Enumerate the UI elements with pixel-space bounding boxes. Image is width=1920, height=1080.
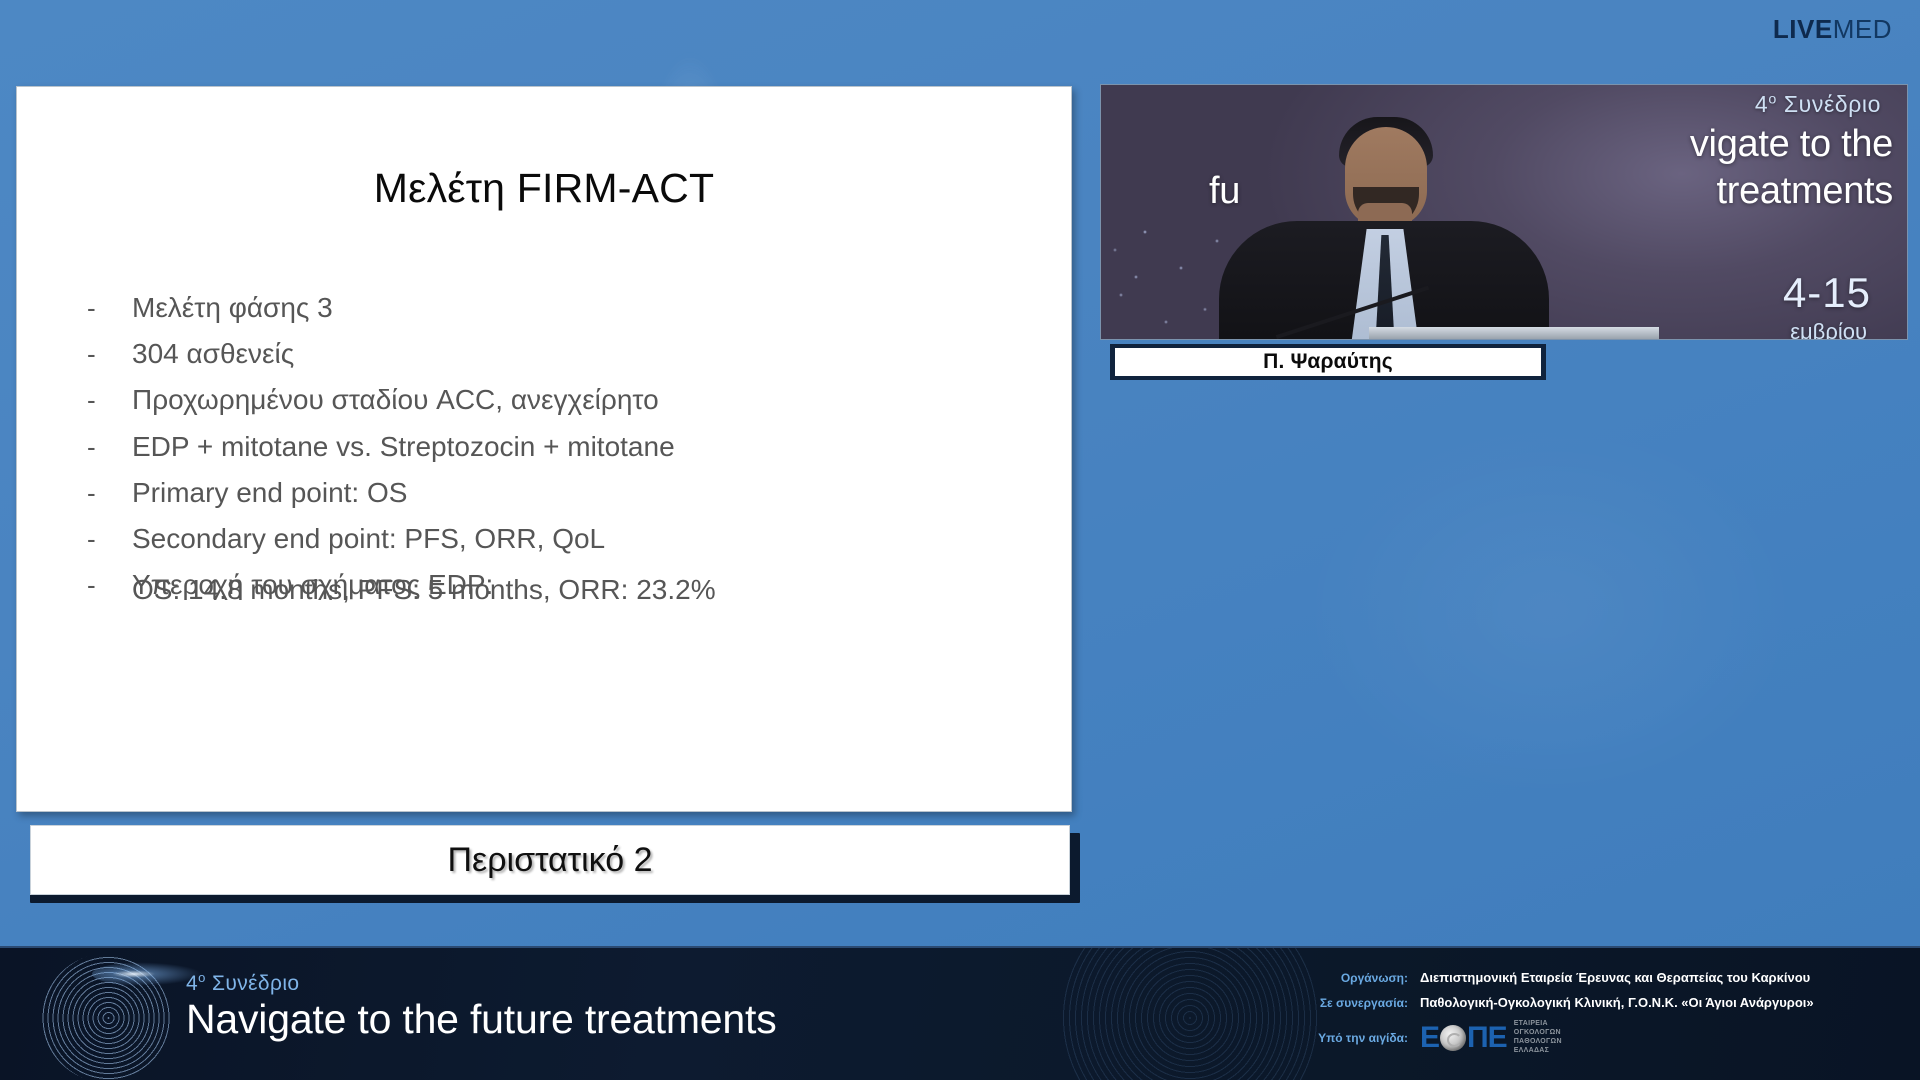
eope-letters-right: ΠΕ [1467,1023,1507,1053]
backdrop-conference-label: 4ο Συνέδριο [1755,91,1881,118]
eope-subtitle-line3: ΠΑΘΟΛΟΓΩΝ [1514,1038,1562,1047]
list-item: - Secondary end point: PFS, ORR, QoL [87,523,1031,555]
backdrop-conference-word: Συνέδριο [1784,91,1881,117]
eope-subtitle-line2: ΟΓΚΟΛΟΓΩΝ [1514,1029,1562,1038]
backdrop-month: εμβρίου [1790,319,1867,340]
list-item: - Μελέτη φάσης 3 [87,292,1031,324]
presentation-viewer: LIVEMED Μελέτη FIRM-ACT - Μελέτη φάσης 3… [0,0,1920,1080]
credit-label: Υπό την αιγίδα: [1256,1031,1420,1045]
livemed-logo-med: MED [1833,14,1892,44]
bullet-text: EDP + mitotane vs. Streptozocin + mitota… [132,431,1031,463]
event-credits: Οργάνωση: Διεπιστημονική Εταιρεία Έρευνα… [1256,970,1896,1066]
speaker-name-plate-container: Π. Ψαραύτης [1110,344,1546,380]
backdrop-conference-ord: ο [1768,91,1777,107]
bullet-text: Προχωρημένου σταδίου ACC, ανεγχείρητο [132,384,1031,416]
speaker-name: Π. Ψαραύτης [1263,350,1393,374]
video-frame[interactable]: 4ο Συνέδριο vigate to the fu treatments … [1100,84,1908,340]
credit-row-collaboration: Σε συνεργασία: Παθολογική-Ογκολογική Κλι… [1256,995,1896,1010]
case-banner: Περιστατικό 2 [30,825,1070,895]
bullet-marker: - [87,433,132,463]
backdrop-dates: 4-15 [1783,269,1871,317]
eope-subtitle-line1: ΕΤΑΙΡΕΙΑ [1514,1020,1562,1029]
bullet-marker: - [87,525,132,555]
event-footer-banner: 4ο Συνέδριο Navigate to the future treat… [0,946,1920,1080]
list-item: - 304 ασθενείς [87,338,1031,370]
laptop-edge [1369,327,1659,339]
bullet-text: Secondary end point: PFS, ORR, QoL [132,523,1031,555]
backdrop-title-line2-right: treatments [1716,170,1893,213]
bullet-marker: - [87,340,132,370]
bullet-text: Primary end point: OS [132,477,1031,509]
slide-title: Μελέτη FIRM-ACT [17,165,1071,212]
credit-label: Σε συνεργασία: [1256,996,1420,1010]
eope-sphere-icon [1440,1025,1466,1051]
eope-logo: Ε ΠΕ ΕΤΑΙΡΕΙΑ ΟΓΚΟΛΟΓΩΝ ΠΑΘΟΛΟΓΩΝ ΕΛΛΑΔΑ… [1420,1020,1562,1056]
eope-letter-left: Ε [1420,1023,1439,1053]
backdrop-title-line1: vigate to the [1690,123,1893,166]
event-edition-word: Συνέδριο [212,972,300,995]
slide-sub-note: OS: 14.8 months, PFS: 5 months, ORR: 23.… [132,574,716,606]
list-item: - EDP + mitotane vs. Streptozocin + mito… [87,431,1031,463]
bullet-marker: - [87,386,132,416]
credit-value: Διεπιστημονική Εταιρεία Έρευνας και Θερα… [1420,970,1810,985]
speaker-video-panel[interactable]: 4ο Συνέδριο vigate to the fu treatments … [1100,84,1908,504]
speaker-figure [1219,111,1549,339]
list-item: - Προχωρημένου σταδίου ACC, ανεγχείρητο [87,384,1031,416]
backdrop-conference-num: 4 [1755,91,1768,117]
slide-container: Μελέτη FIRM-ACT - Μελέτη φάσης 3 - 304 α… [16,86,1080,816]
credit-row-organizer: Οργάνωση: Διεπιστημονική Εταιρεία Έρευνα… [1256,970,1896,985]
credit-row-auspices: Υπό την αιγίδα: Ε ΠΕ ΕΤΑΙΡΕΙΑ ΟΓΚΟΛΟΓΩΝ … [1256,1020,1896,1056]
eope-wordmark: Ε ΠΕ [1420,1023,1507,1053]
event-branding: 4ο Συνέδριο Navigate to the future treat… [186,970,777,1041]
bullet-marker: - [87,294,132,324]
event-edition-num: 4 [186,972,198,995]
bullet-text: Μελέτη φάσης 3 [132,292,1031,324]
eope-subtitle-line4: ΕΛΛΑΔΑΣ [1514,1047,1562,1056]
case-banner-container: Περιστατικό 2 [16,825,1080,903]
event-title: Navigate to the future treatments [186,998,777,1041]
bullet-marker: - [87,479,132,509]
event-edition: 4ο Συνέδριο [186,970,777,996]
credit-label: Οργάνωση: [1256,971,1420,985]
bullet-marker: - [87,571,132,601]
speaker-name-plate: Π. Ψαραύτης [1115,348,1541,376]
livemed-logo: LIVEMED [1773,16,1892,42]
bullet-text: 304 ασθενείς [132,338,1031,370]
slide-bullet-list: - Μελέτη φάσης 3 - 304 ασθενείς - Προχωρ… [87,292,1031,615]
slide: Μελέτη FIRM-ACT - Μελέτη φάσης 3 - 304 α… [16,86,1072,812]
livemed-logo-live: LIVE [1773,14,1833,44]
event-edition-ord: ο [198,970,206,985]
eope-subtitle: ΕΤΑΙΡΕΙΑ ΟΓΚΟΛΟΓΩΝ ΠΑΘΟΛΟΓΩΝ ΕΛΛΑΔΑΣ [1514,1020,1562,1056]
list-item: - Primary end point: OS [87,477,1031,509]
case-banner-label: Περιστατικό 2 [447,841,652,880]
credit-value: Παθολογική-Ογκολογική Κλινική, Γ.Ο.Ν.Κ. … [1420,995,1814,1010]
